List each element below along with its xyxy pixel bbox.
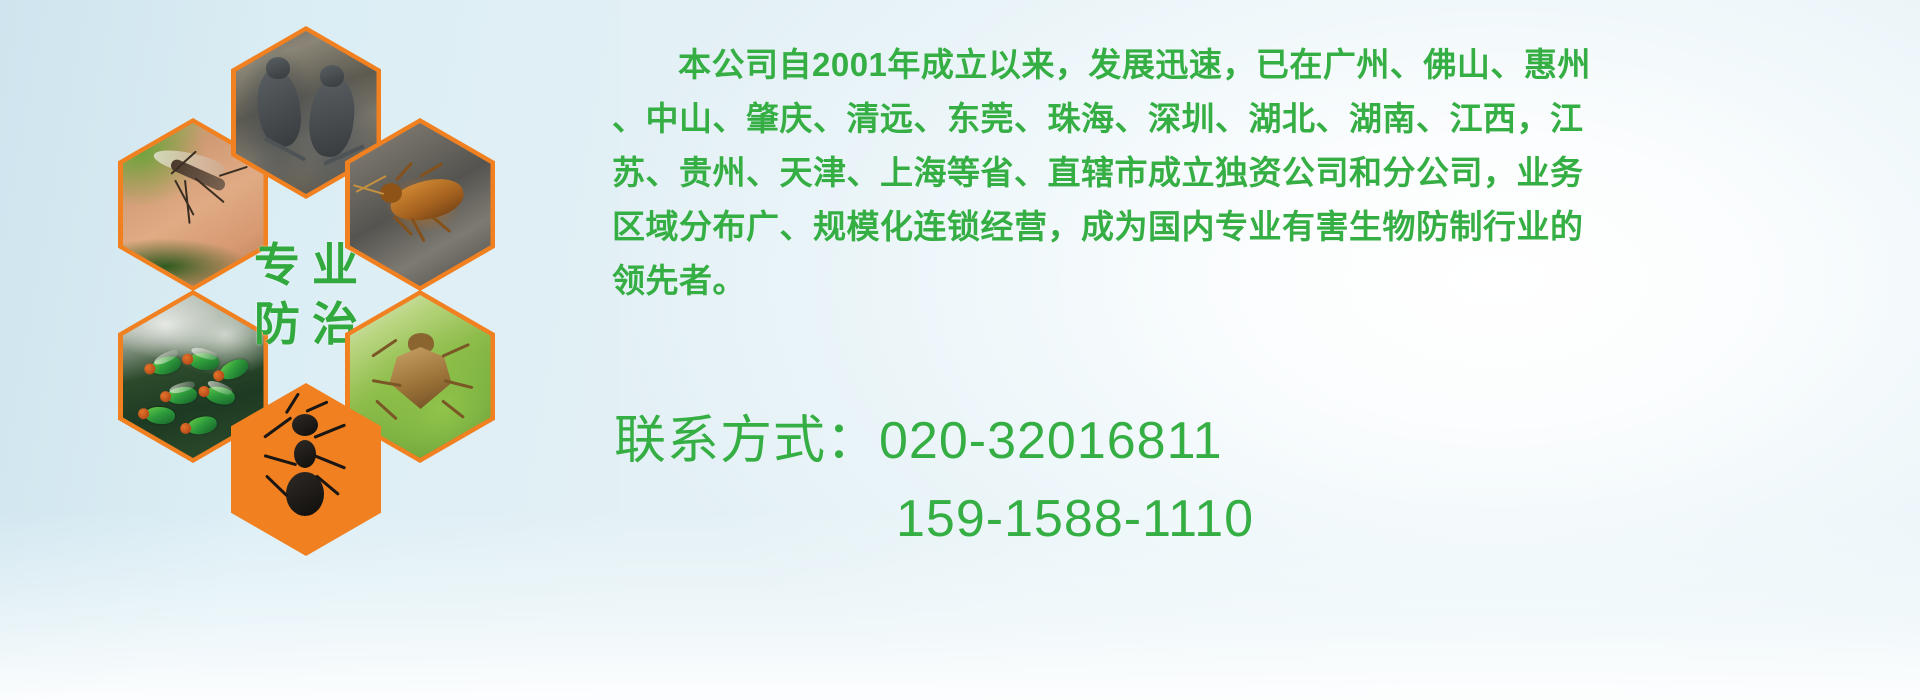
contact-phone-primary[interactable]: 联系方式：020-32016811 xyxy=(614,402,1904,480)
brand-logo-line1: 专业 xyxy=(242,236,370,295)
description-line-2: 、中山、肇庆、清远、东莞、珠海、深圳、湖北、湖南、江西，江 xyxy=(612,92,1892,146)
contact-block: 联系方式：020-32016811 159-1588-1110 xyxy=(614,402,1904,558)
description-line-3: 苏、贵州、天津、上海等省、直辖市成立独资公司和分公司，业务 xyxy=(612,146,1892,200)
contact-phone-secondary[interactable]: 159-1588-1110 xyxy=(614,480,1904,558)
hexagon-photo-cluster: 专业 防治 xyxy=(88,8,588,568)
description-line-4: 区域分布广、规模化连锁经营，成为国内专业有害生物防制行业的 xyxy=(612,200,1892,254)
company-description: 本公司自2001年成立以来，发展迅速，已在广州、佛山、惠州 、中山、肇庆、清远、… xyxy=(612,38,1892,308)
description-line-1: 本公司自2001年成立以来，发展迅速，已在广州、佛山、惠州 xyxy=(612,38,1892,92)
ant-photo-image xyxy=(236,388,377,551)
description-line-5: 领先者。 xyxy=(612,254,1892,308)
promo-banner: 专业 防治 xyxy=(0,0,1920,700)
